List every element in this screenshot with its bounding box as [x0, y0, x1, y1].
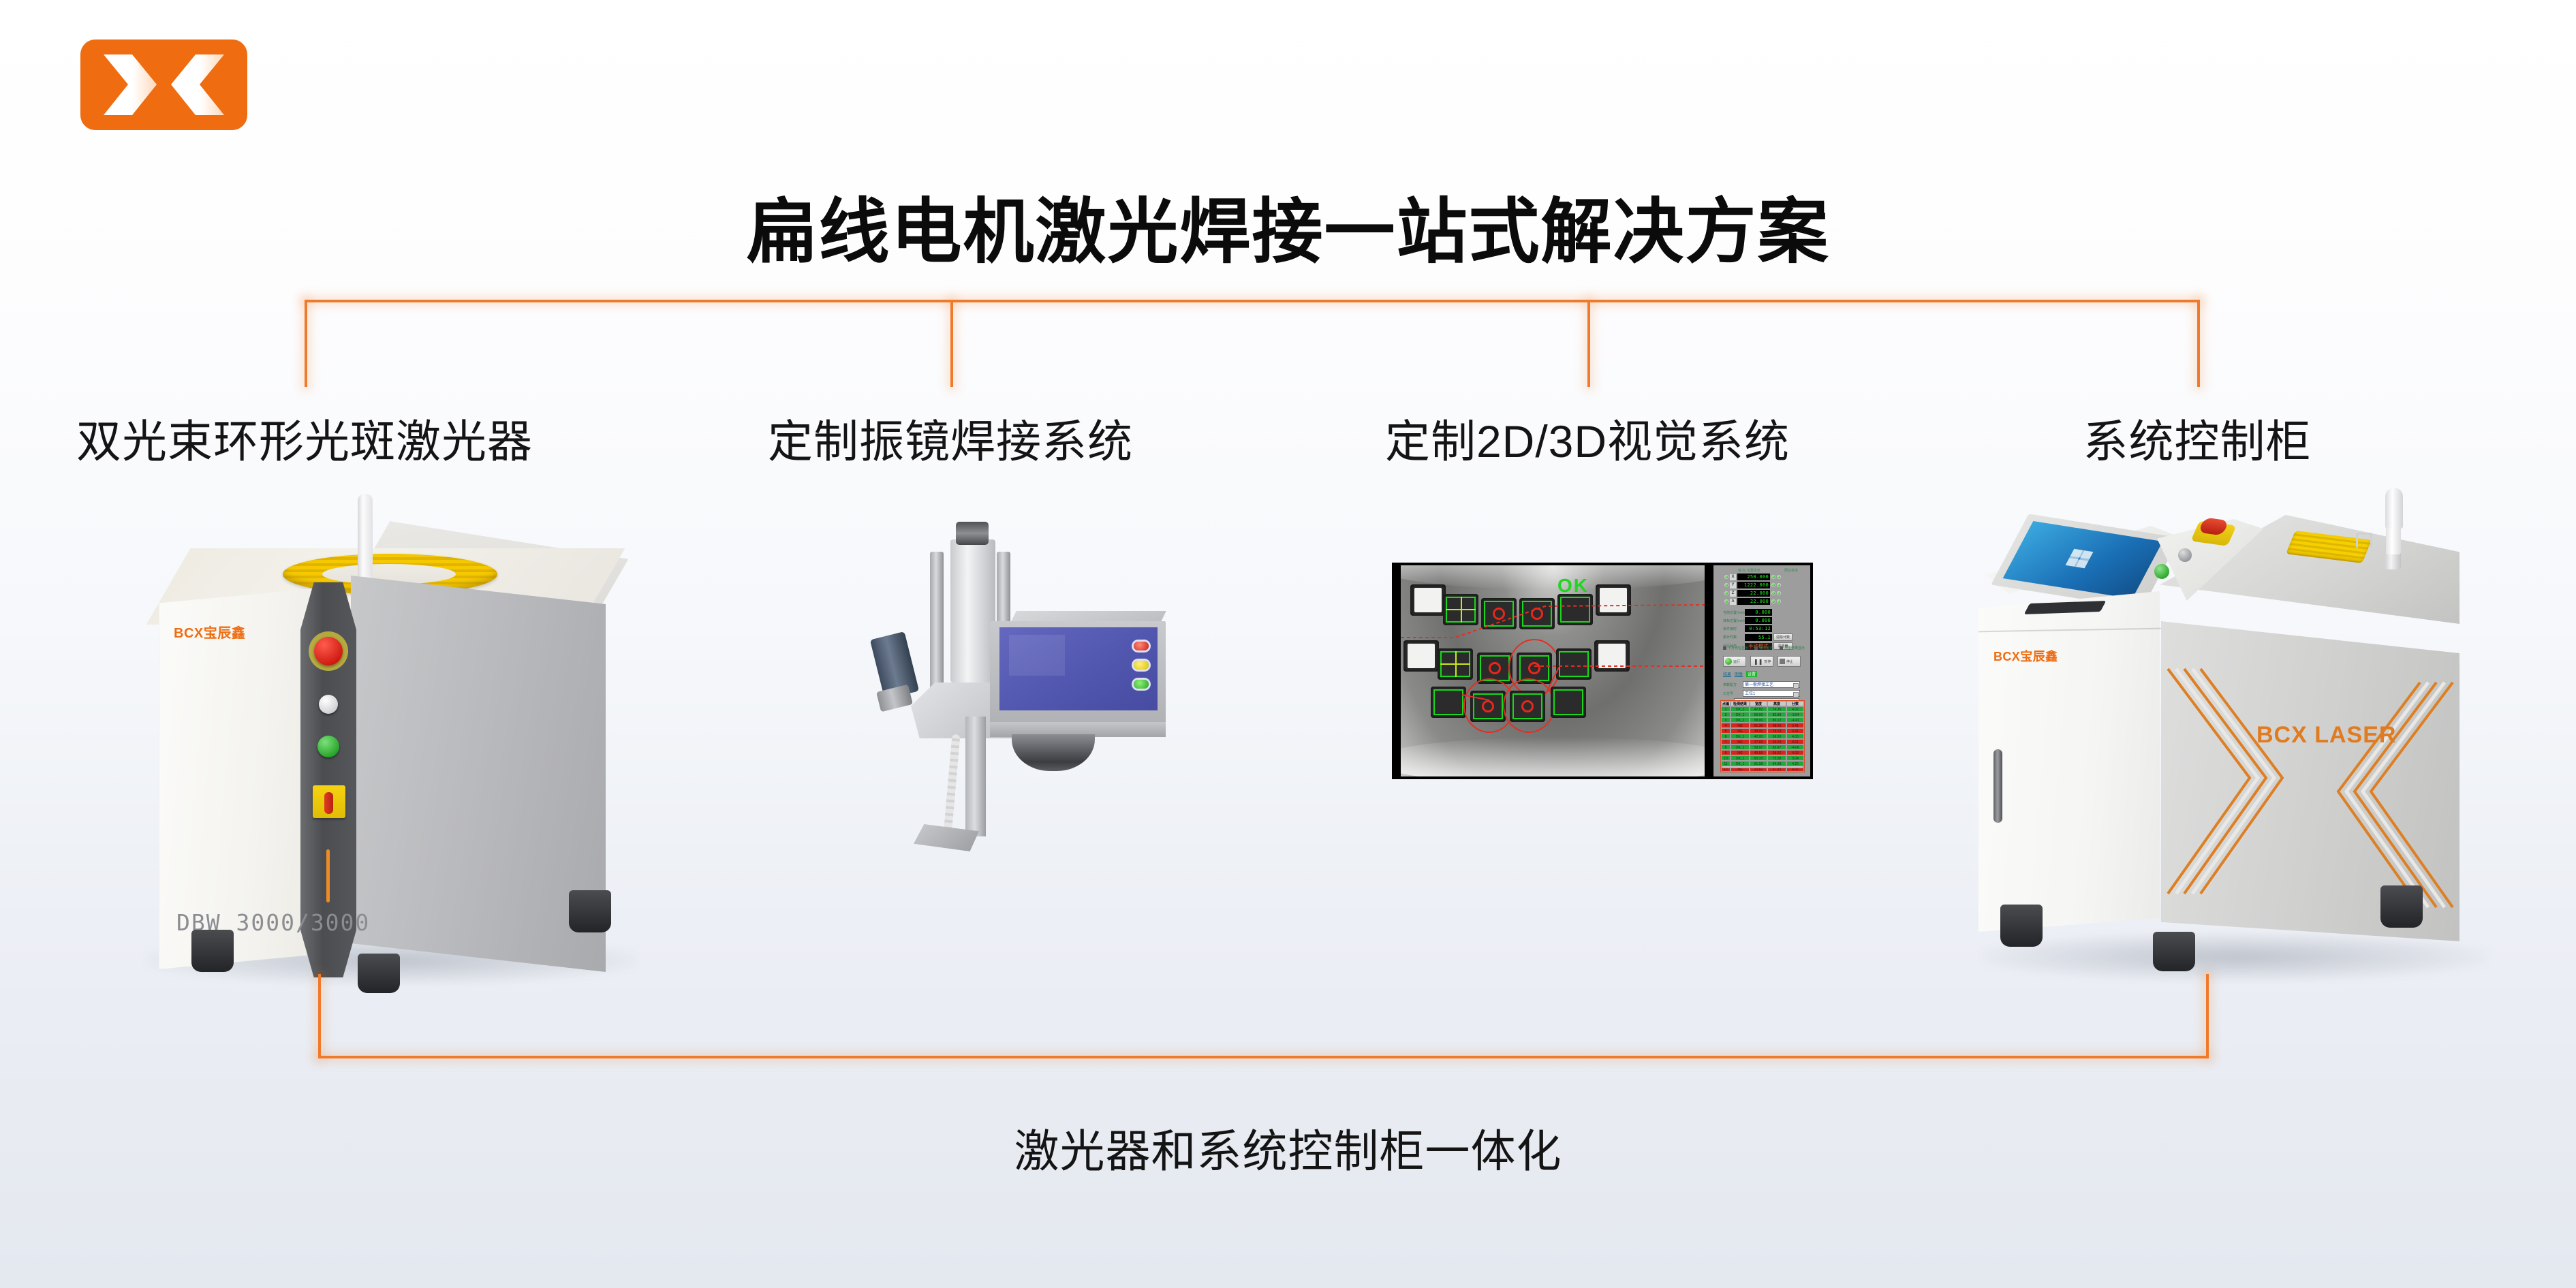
power-selector-knob[interactable]	[319, 695, 338, 714]
vision-control-panel: 轴 向 位置信息 限位状态 X 250.000 Y 1222.000	[1713, 565, 1810, 776]
col-header-id: 点编号	[1721, 701, 1731, 706]
table-header-row: 点编号 检测结果 宽度 高度 分数	[1721, 701, 1804, 706]
annotation-leader	[1401, 605, 1705, 638]
signal-tower-lamp	[2385, 488, 2403, 529]
limit-lamp-icon	[1771, 599, 1775, 603]
play-icon	[1725, 658, 1732, 665]
readout-row: 当前位置(mm) 0.000	[1723, 609, 1803, 616]
category-label-vision-system: 定制2D/3D视觉系统	[1322, 405, 1853, 471]
table-row: 1OK_142.8274.364.02	[1721, 706, 1804, 712]
table-row: 10OK_160.1075.083.04	[1721, 755, 1804, 761]
table-scrollbar[interactable]	[1722, 766, 1803, 768]
limit-lamp-icon	[1771, 583, 1775, 587]
axis-name: Y	[1730, 582, 1736, 588]
product-image-control-cabinet: BCX宝辰鑫	[1969, 477, 2514, 1015]
galvo-collimator	[956, 522, 989, 545]
checkbox-icon[interactable]	[1780, 646, 1783, 650]
table-row: 8OK_158.9783.87-4.06	[1721, 744, 1804, 750]
category-label-laser-source: 双光束环形光斑激光器	[32, 405, 577, 471]
pause-button[interactable]: ❚❚ 暂停	[1750, 656, 1773, 667]
signal-tower-mid	[2386, 527, 2401, 554]
galvo-rotary-mount	[1012, 734, 1095, 771]
vision-camera-view: OK	[1401, 565, 1705, 776]
tab-results[interactable]: 结果	[1723, 671, 1731, 677]
annotation-leader	[1545, 667, 1559, 695]
station-select[interactable]: 工位1	[1743, 690, 1800, 697]
connector-top-rail	[305, 300, 2200, 302]
category-label-galvo-welding: 定制振镜焊接系统	[685, 405, 1216, 471]
limit-lamp-icon	[1771, 591, 1775, 595]
category-label-control-cabinet: 系统控制柜	[1966, 405, 2429, 471]
start-button[interactable]	[2154, 564, 2169, 579]
cabinet-ground-shadow	[1983, 933, 2487, 981]
readout-label: 累计件数	[1723, 635, 1743, 640]
main-switch-lever-icon[interactable]	[324, 792, 333, 814]
checkbox-index-display[interactable]: 编号显示	[1754, 646, 1773, 650]
limit-lamp-icon	[1777, 575, 1781, 579]
table-row: 2OK_150.0082.88-3.64	[1721, 712, 1804, 717]
axis-name: X	[1730, 574, 1736, 580]
cabinet-brand-text: BCX LASER	[2256, 722, 2396, 749]
tab-settings[interactable]: 设置	[1746, 671, 1757, 677]
axis-readout-group: X 250.000 Y 1222.000 Z 22.000	[1724, 574, 1801, 606]
readout-label: 单件用时	[1723, 627, 1743, 631]
axis-name: Z	[1730, 591, 1736, 597]
caster-wheel	[2000, 905, 2043, 947]
galvo-cover-highlight	[1009, 635, 1065, 676]
recipe-select[interactable]: 第一套焊接工艺	[1743, 681, 1800, 688]
axis-lamp-icon	[1724, 575, 1728, 579]
table-row: 5NG39.0076.133.41	[1721, 728, 1804, 734]
checkbox-point-display[interactable]: 下方点位显示	[1723, 646, 1748, 650]
footer-caption: 激光器和系统控制柜一体化	[0, 1115, 2576, 1180]
readout-label: 当前位置(mm)	[1723, 610, 1743, 615]
laser-brand-mark: BCX宝辰鑫	[174, 622, 245, 642]
green-indicator-icon	[1134, 680, 1149, 689]
table-row: 7NG27.9369.033.61	[1721, 739, 1804, 744]
pause-icon: ❚❚	[1752, 659, 1763, 665]
readout-row: 目标位置(mm) 0.000	[1723, 617, 1803, 624]
axis-value: 1222.000	[1737, 582, 1770, 588]
connector-bottom-drop-left	[318, 974, 321, 1057]
connector-drop-2	[950, 300, 953, 387]
product-image-galvo-welding-head	[848, 504, 1230, 858]
power-selector-knob[interactable]	[2178, 548, 2192, 562]
checkbox-icon[interactable]	[1754, 646, 1758, 650]
axis-lamp-icon	[1724, 591, 1728, 595]
axis-row: X 250.000	[1724, 574, 1801, 580]
emergency-stop-button[interactable]	[314, 637, 343, 665]
poster-canvas: 扁线电机激光焊接一站式解决方案 双光束环形光斑激光器 定制振镜焊接系统 定制2D…	[0, 0, 2576, 1288]
caster-wheel	[2153, 932, 2195, 971]
readout-value: 0:53:12	[1745, 625, 1772, 632]
galvo-cable	[943, 734, 960, 836]
caster-wheel	[2380, 885, 2423, 928]
start-button[interactable]	[317, 736, 339, 757]
galvo-z-column	[950, 539, 995, 682]
axis-row: Z 22.000	[1724, 590, 1801, 597]
inspection-results-table: 点编号 检测结果 宽度 高度 分数 1OK_142.8274.364.02 2O…	[1720, 700, 1805, 772]
table-row: 6OK_142.0069.004.03	[1721, 734, 1804, 739]
checkbox-icon[interactable]	[1723, 646, 1726, 650]
axis-row: A 22.000	[1724, 598, 1801, 605]
stop-icon	[1780, 659, 1785, 664]
connector-drop-1	[305, 300, 307, 387]
caster-wheel	[569, 890, 611, 932]
connector-bottom-drop-right	[2206, 974, 2209, 1057]
yellow-indicator-icon	[1134, 661, 1149, 670]
cabinet-brand-mark: BCX宝辰鑫	[1993, 647, 2058, 665]
annotation-leader	[1462, 695, 1489, 700]
col-header-score: 分数	[1786, 701, 1804, 706]
axis-lamp-icon	[1724, 583, 1728, 587]
run-button[interactable]: 运行	[1723, 656, 1746, 667]
caster-wheel	[358, 954, 400, 993]
axis-col-header: 轴 向 位置信息	[1738, 568, 1760, 573]
cabinet-door-handle[interactable]	[1993, 749, 2002, 823]
axis-lamp-icon	[1724, 599, 1728, 603]
col-header-result: 检测结果	[1731, 701, 1750, 706]
caster-wheel	[191, 930, 234, 972]
connector-bottom-rail	[318, 1056, 2209, 1058]
limit-lamp-icon	[1777, 599, 1781, 603]
axis-value: 250.000	[1737, 574, 1770, 580]
table-row: 9NG40.5968.024.03	[1721, 750, 1804, 755]
col-header-height: 高度	[1767, 701, 1786, 706]
connector-drop-3	[1587, 300, 1590, 387]
tab-image[interactable]: 图像	[1735, 671, 1743, 677]
limit-lamp-icon	[1777, 591, 1781, 595]
col-header-width: 宽度	[1750, 701, 1767, 706]
readout-value: 0.000	[1745, 617, 1772, 624]
limit-col-header: 限位状态	[1784, 568, 1798, 573]
recipe-label: 参数配方	[1723, 682, 1741, 687]
limit-lamp-icon	[1771, 575, 1775, 579]
product-image-vision-system: OK	[1392, 563, 1813, 779]
checkbox-result-display[interactable]: 测量结果显示	[1780, 646, 1805, 650]
readout-label: 目标位置(mm)	[1723, 618, 1743, 623]
connector-drop-4	[2197, 300, 2200, 387]
red-indicator-icon	[1134, 642, 1149, 650]
galvo-support-leg	[965, 717, 986, 836]
stop-button[interactable]: 停止	[1778, 656, 1801, 667]
cabinet-left-door	[1978, 591, 2160, 932]
axis-name: A	[1730, 599, 1736, 605]
bcx-chevron-logo-icon	[80, 40, 247, 130]
page-title: 扁线电机激光焊接一站式解决方案	[0, 174, 2576, 277]
fiber-coil-hook	[2356, 533, 2372, 548]
axis-value: 22.000	[1737, 598, 1770, 605]
clear-count-button[interactable]: 清除计数	[1773, 633, 1793, 641]
laser-accent-stripe	[326, 849, 330, 902]
galvo-linear-rail	[930, 552, 944, 696]
readout-value: 55.1	[1745, 634, 1772, 641]
station-label: 工位号	[1723, 691, 1741, 696]
readout-row: 单件用时 0:53:12	[1723, 625, 1803, 632]
axis-value: 22.000	[1737, 590, 1770, 597]
table-row: 4NG81.3868.233.41	[1721, 723, 1804, 728]
limit-lamp-icon	[1777, 583, 1781, 587]
readout-row: 累计件数 55.1 清除计数	[1723, 633, 1803, 641]
laser-side-panel	[351, 563, 606, 972]
table-row: 3OK_158.9080.12-4.41	[1721, 717, 1804, 723]
product-image-laser-source: BCX宝辰鑫 DBW 3000/3000	[126, 501, 671, 1018]
axis-row: Y 1222.000	[1724, 582, 1801, 588]
readout-value: 0.000	[1745, 609, 1772, 616]
